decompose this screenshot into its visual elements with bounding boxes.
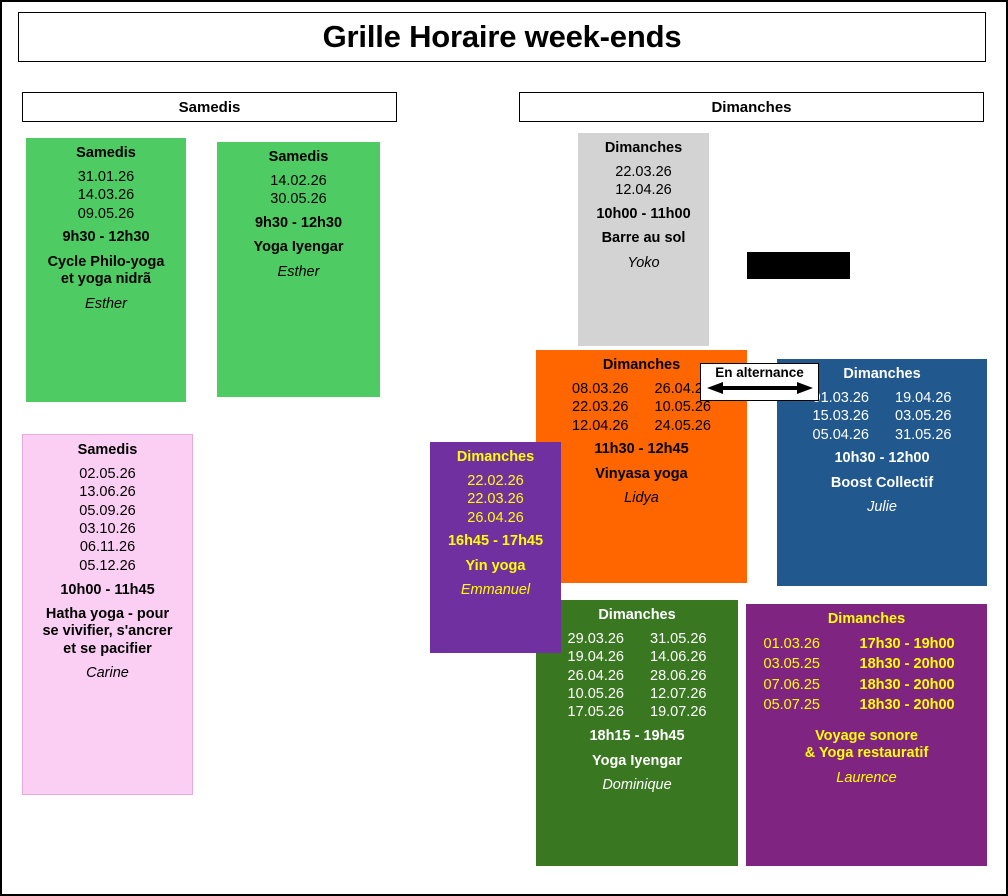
card-course-name: Yoga Iyengar [536,753,738,770]
card-time: 16h45 - 17h45 [430,534,561,549]
course-name-line: et yoga nidrã [26,271,186,288]
date-entry: 19.04.26 [895,391,951,406]
date-row: 19.04.2614.06.26 [536,649,738,667]
date-row: 22.03.2610.05.26 [536,399,747,417]
card-day-label: Samedis [23,443,192,458]
date-entry: 01.03.26 [764,637,842,652]
card-teacher: Laurence [746,771,987,786]
course-name-line: Cycle Philo-yoga [26,254,186,271]
date-time-row: 01.03.2617h30 - 19h00 [746,634,987,654]
card-dates: 02.05.2613.06.2605.09.2603.10.2606.11.26… [23,465,192,575]
time-entry: 17h30 - 19h00 [860,637,970,652]
course-card-yin-yoga[interactable]: Dimanches 22.02.2622.03.2626.04.26 16h45… [430,442,561,653]
time-entry: 18h30 - 20h00 [860,678,970,693]
page-title-bar: Grille Horaire week-ends [18,12,986,62]
date-entry: 17.05.26 [568,705,624,720]
date-row: 12.04.2624.05.26 [536,417,747,435]
course-name-line: Barre au sol [578,230,709,247]
en-alternance-label: En alternance [715,365,804,381]
course-card-hatha-yoga[interactable]: Samedis 02.05.2613.06.2605.09.2603.10.26… [22,434,193,795]
time-entry: 18h30 - 20h00 [860,698,970,713]
date-entry: 01.03.26 [813,391,869,406]
date-entry: 28.06.26 [650,669,706,684]
course-name-line: Vinyasa yoga [536,466,747,483]
redaction-box [747,252,850,279]
card-teacher: Emmanuel [430,583,561,598]
date-entry: 29.03.26 [568,632,624,647]
card-teacher: Julie [777,500,987,515]
page-title: Grille Horaire week-ends [323,19,682,55]
date-row: 29.03.2631.05.26 [536,630,738,648]
card-day-label: Samedis [26,146,186,161]
card-day-label: Dimanches [536,608,738,623]
date-row: 15.03.2603.05.26 [777,408,987,426]
date-entry: 05.07.25 [764,698,842,713]
date-entry: 31.05.26 [650,632,706,647]
card-teacher: Esther [217,265,380,280]
card-time: 10h00 - 11h45 [23,583,192,598]
date-entry: 12.04.26 [578,182,709,200]
schedule-grid-page: Grille Horaire week-ends Samedis Dimanch… [0,0,1008,896]
date-entry: 02.05.26 [23,465,192,483]
date-entry: 24.05.26 [655,419,711,434]
course-name-line: & Yoga restauratif [746,745,987,762]
double-arrow-horizontal-icon [707,381,813,400]
date-entry: 26.04.26 [430,509,561,527]
date-entry: 06.11.26 [23,539,192,557]
date-entry: 22.02.26 [430,472,561,490]
card-time: 11h30 - 12h45 [536,442,747,457]
date-entry: 19.07.26 [650,705,706,720]
en-alternance-badge: En alternance [700,363,819,401]
date-entry: 03.05.25 [764,657,842,672]
course-name-line: Yoga Iyengar [217,239,380,256]
date-entry: 12.04.26 [572,419,628,434]
date-entry: 14.06.26 [650,650,706,665]
column-header-sunday: Dimanches [519,92,984,122]
card-dates: 31.01.2614.03.2609.05.26 [26,168,186,223]
card-teacher: Yoko [578,256,709,271]
course-name-line: et se pacifier [23,641,192,658]
card-course-name: Hatha yoga - pourse vivifier, s'ancreret… [23,606,192,658]
date-row: 10.05.2612.07.26 [536,685,738,703]
card-teacher: Dominique [536,778,738,793]
date-entry: 03.10.26 [23,520,192,538]
card-dates: 22.03.2612.04.26 [578,163,709,200]
date-entry: 15.03.26 [813,409,869,424]
date-entry: 07.06.25 [764,678,842,693]
date-entry: 03.05.26 [895,409,951,424]
card-dates: 22.02.2622.03.2626.04.26 [430,472,561,527]
card-course-name: Boost Collectif [777,475,987,492]
course-name-line: Boost Collectif [777,475,987,492]
card-day-label: Dimanches [578,141,709,156]
date-entry: 08.03.26 [572,382,628,397]
card-course-name: Voyage sonore& Yoga restauratif [746,728,987,763]
card-course-name: Barre au sol [578,230,709,247]
card-date-time-rows: 01.03.2617h30 - 19h0003.05.2518h30 - 20h… [746,634,987,715]
card-teacher: Lidya [536,491,747,506]
column-header-saturday-label: Samedis [179,99,241,116]
date-entry: 10.05.26 [568,687,624,702]
card-time: 9h30 - 12h30 [217,216,380,231]
date-entry: 13.06.26 [23,484,192,502]
course-card-yoga-iyengar-dimanche[interactable]: Dimanches 29.03.2631.05.2619.04.2614.06.… [536,600,738,866]
date-entry: 31.05.26 [895,428,951,443]
date-entry: 05.09.26 [23,502,192,520]
column-header-sunday-label: Dimanches [711,99,791,116]
course-name-line: se vivifier, s'ancrer [23,623,192,640]
date-entry: 19.04.26 [568,650,624,665]
card-day-label: Samedis [217,150,380,165]
card-day-label: Dimanches [430,450,561,465]
date-row: 05.04.2631.05.26 [777,426,987,444]
card-teacher: Carine [23,666,192,681]
date-row: 17.05.2619.07.26 [536,704,738,722]
card-dates: 29.03.2631.05.2619.04.2614.06.2626.04.26… [536,630,738,722]
time-entry: 18h30 - 20h00 [860,657,970,672]
course-name-line: Yin yoga [430,558,561,575]
date-entry: 14.02.26 [217,172,380,190]
date-entry: 22.03.26 [572,400,628,415]
course-name-line: Yoga Iyengar [536,753,738,770]
date-entry: 05.12.26 [23,557,192,575]
card-course-name: Yoga Iyengar [217,239,380,256]
card-time: 18h15 - 19h45 [536,729,738,744]
date-row: 26.04.2628.06.26 [536,667,738,685]
date-entry: 22.03.26 [578,163,709,181]
date-entry: 12.07.26 [650,687,706,702]
date-entry: 22.03.26 [430,491,561,509]
date-entry: 31.01.26 [26,168,186,186]
card-dates: 14.02.2630.05.26 [217,172,380,209]
course-name-line: Hatha yoga - pour [23,606,192,623]
date-entry: 09.05.26 [26,205,186,223]
date-entry: 10.05.26 [655,400,711,415]
date-entry: 30.05.26 [217,191,380,209]
date-entry: 14.03.26 [26,187,186,205]
date-entry: 05.04.26 [813,428,869,443]
course-card-cycle-philo-yoga[interactable]: Samedis 31.01.2614.03.2609.05.26 9h30 - … [26,138,186,402]
course-name-line: Voyage sonore [746,728,987,745]
course-card-voyage-sonore[interactable]: Dimanches 01.03.2617h30 - 19h0003.05.251… [746,604,987,866]
card-course-name: Cycle Philo-yogaet yoga nidrã [26,254,186,289]
column-header-saturday: Samedis [22,92,397,122]
date-time-row: 03.05.2518h30 - 20h00 [746,655,987,675]
course-card-yoga-iyengar-samedi[interactable]: Samedis 14.02.2630.05.26 9h30 - 12h30 Yo… [217,142,380,397]
date-time-row: 05.07.2518h30 - 20h00 [746,695,987,715]
date-time-row: 07.06.2518h30 - 20h00 [746,675,987,695]
card-time: 10h30 - 12h00 [777,451,987,466]
card-course-name: Yin yoga [430,558,561,575]
card-teacher: Esther [26,297,186,312]
course-card-barre-au-sol[interactable]: Dimanches 22.03.2612.04.26 10h00 - 11h00… [578,133,709,346]
card-day-label: Dimanches [746,612,987,627]
date-entry: 26.04.26 [568,669,624,684]
card-time: 10h00 - 11h00 [578,207,709,222]
card-course-name: Vinyasa yoga [536,466,747,483]
card-time: 9h30 - 12h30 [26,230,186,245]
